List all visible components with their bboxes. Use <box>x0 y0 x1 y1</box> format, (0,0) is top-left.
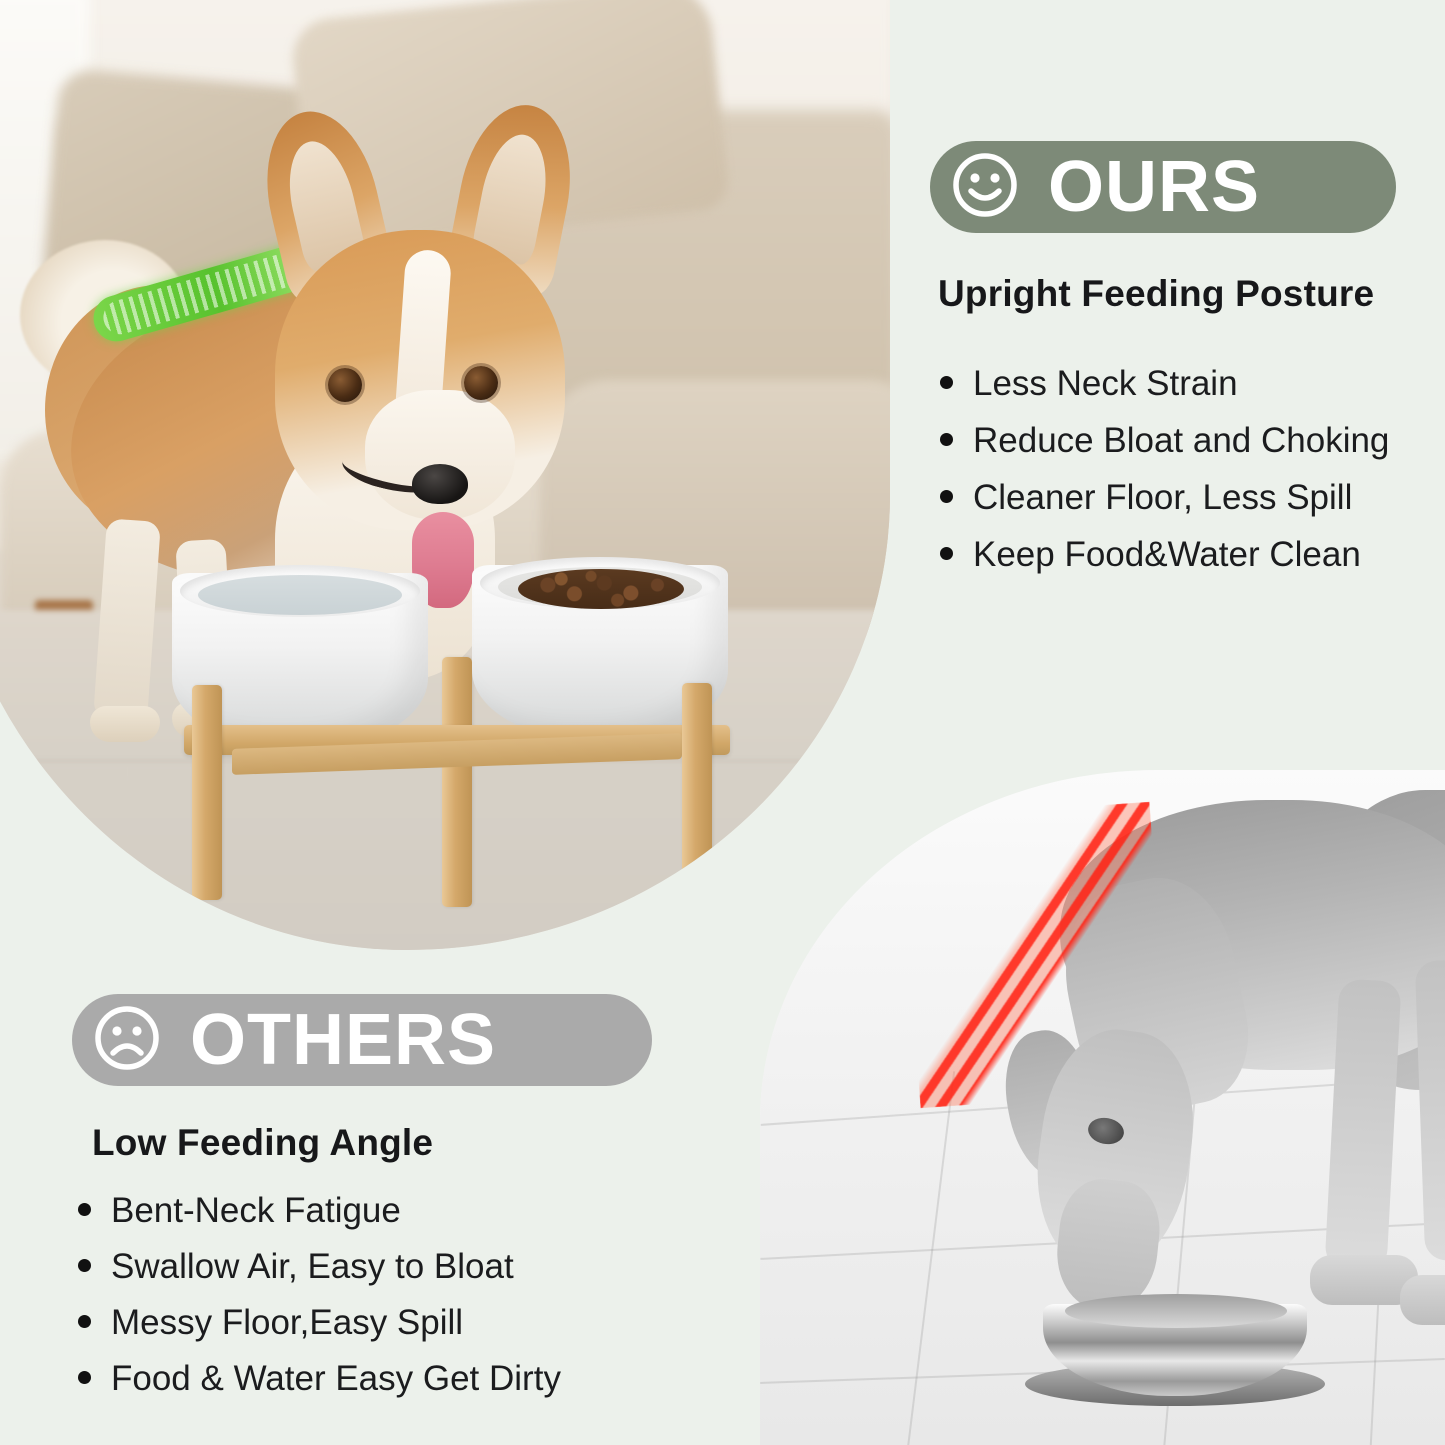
others-badge: OTHERS <box>72 994 652 1086</box>
bowl-opening <box>1065 1294 1287 1328</box>
bullet-icon <box>940 376 953 389</box>
smiley-face-icon <box>948 148 1022 227</box>
list-item: Keep Food&Water Clean <box>940 537 1389 572</box>
others-badge-label: OTHERS <box>190 1004 496 1076</box>
corgi-front-leg-left <box>93 518 161 721</box>
ours-product-photo <box>0 0 890 950</box>
stainless-steel-floor-bowl <box>1025 1290 1325 1412</box>
list-item: Reduce Bloat and Choking <box>940 423 1389 458</box>
bullet-icon <box>78 1315 91 1328</box>
corgi-nose <box>412 464 468 504</box>
bullet-icon <box>78 1371 91 1384</box>
feature-text: Keep Food&Water Clean <box>973 537 1361 572</box>
kibble <box>518 569 684 609</box>
bullet-icon <box>940 490 953 503</box>
feature-text: Messy Floor,Easy Spill <box>111 1305 463 1340</box>
others-feature-list: Bent-Neck Fatigue Swallow Air, Easy to B… <box>78 1193 561 1417</box>
stand-post-right <box>682 683 712 898</box>
stand-post-left <box>192 685 222 900</box>
stand-post-middle <box>442 657 472 907</box>
list-item: Bent-Neck Fatigue <box>78 1193 561 1228</box>
corgi-eye-right <box>464 366 498 400</box>
list-item: Messy Floor,Easy Spill <box>78 1305 561 1340</box>
water-bowl-water <box>198 575 402 615</box>
bullet-icon <box>940 433 953 446</box>
feature-text: Cleaner Floor, Less Spill <box>973 480 1352 515</box>
sad-face-icon <box>90 1001 164 1080</box>
bullet-icon <box>940 547 953 560</box>
feature-text: Reduce Bloat and Choking <box>973 423 1389 458</box>
dog-paw-right <box>1400 1275 1445 1325</box>
list-item: Food & Water Easy Get Dirty <box>78 1361 561 1396</box>
feature-text: Food & Water Easy Get Dirty <box>111 1361 561 1396</box>
feature-text: Swallow Air, Easy to Bloat <box>111 1249 514 1284</box>
list-item: Less Neck Strain <box>940 366 1389 401</box>
infographic-canvas: OURS Upright Feeding Posture Less Neck S… <box>0 0 1445 1445</box>
corgi-paw-left <box>90 706 160 742</box>
list-item: Cleaner Floor, Less Spill <box>940 480 1389 515</box>
ours-badge-label: OURS <box>1048 151 1260 223</box>
others-problem-photo <box>760 770 1445 1445</box>
ours-feature-list: Less Neck Strain Reduce Bloat and Chokin… <box>940 366 1389 594</box>
elevated-bowl-stand <box>172 565 742 910</box>
dog-leg-right <box>1415 959 1445 1261</box>
list-item: Swallow Air, Easy to Bloat <box>78 1249 561 1284</box>
bullet-icon <box>78 1203 91 1216</box>
feature-text: Bent-Neck Fatigue <box>111 1193 401 1228</box>
ours-badge: OURS <box>930 141 1396 233</box>
feature-text: Less Neck Strain <box>973 366 1238 401</box>
corgi-eye-left <box>328 368 362 402</box>
ours-heading: Upright Feeding Posture <box>938 273 1374 315</box>
red-spine-strain-highlight <box>900 802 1170 1109</box>
others-heading: Low Feeding Angle <box>92 1122 433 1164</box>
bullet-icon <box>78 1259 91 1272</box>
